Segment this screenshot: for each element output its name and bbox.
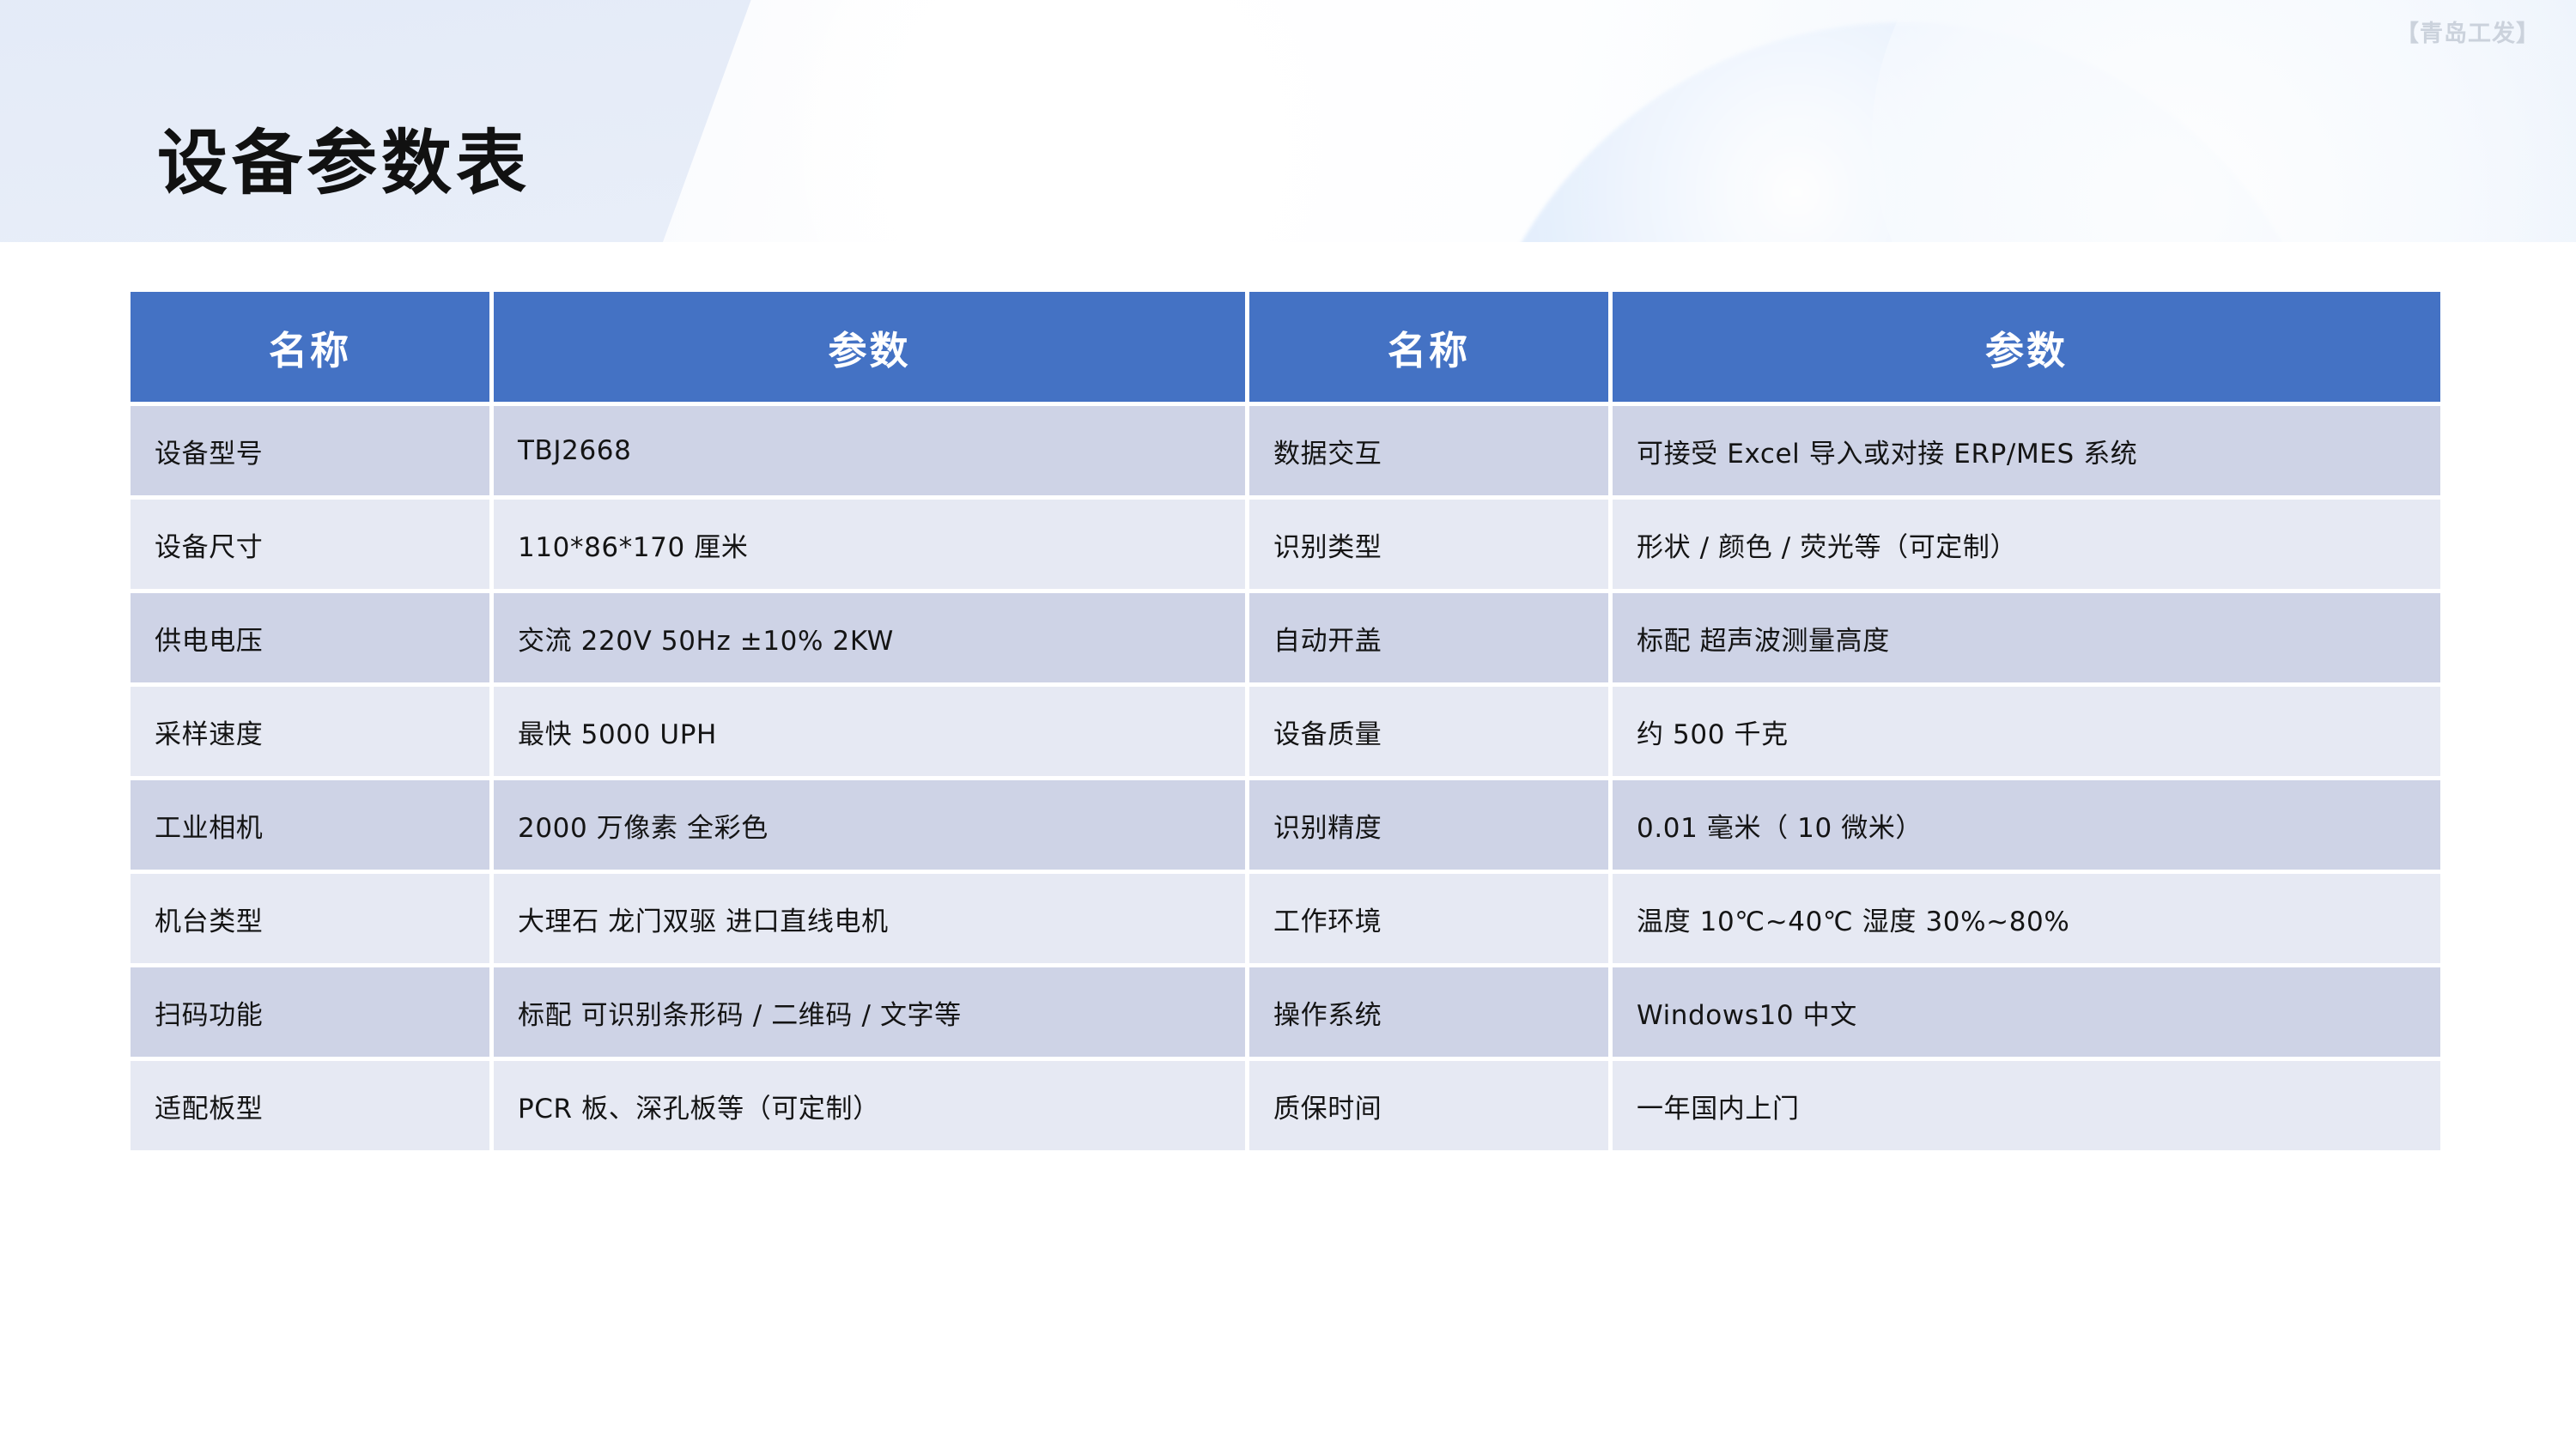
param-value-cell: 约 500 千克 <box>1613 687 2440 776</box>
table-row: 扫码功能 标配 可识别条形码 / 二维码 / 文字等 操作系统 Windows1… <box>131 967 2440 1057</box>
parameter-table-container: 名称 参数 名称 参数 设备型号 TBJ2668 数据交互 可接受 Excel … <box>131 292 2445 1150</box>
param-value-cell: 形状 / 颜色 / 荧光等（可定制） <box>1613 500 2440 589</box>
param-name-cell: 识别精度 <box>1249 780 1608 870</box>
param-name-cell: 工作环境 <box>1249 874 1608 963</box>
param-name-cell: 采样速度 <box>131 687 489 776</box>
param-name-cell: 数据交互 <box>1249 406 1608 495</box>
param-value-cell: Windows10 中文 <box>1613 967 2440 1057</box>
param-value-cell: 标配 超声波测量高度 <box>1613 593 2440 682</box>
param-value-cell: 可接受 Excel 导入或对接 ERP/MES 系统 <box>1613 406 2440 495</box>
param-value-cell: 最快 5000 UPH <box>494 687 1245 776</box>
param-value-cell: 一年国内上门 <box>1613 1061 2440 1150</box>
table-row: 适配板型 PCR 板、深孔板等（可定制） 质保时间 一年国内上门 <box>131 1061 2440 1150</box>
param-value-cell: 2000 万像素 全彩色 <box>494 780 1245 870</box>
table-row: 供电电压 交流 220V 50Hz ±10% 2KW 自动开盖 标配 超声波测量… <box>131 593 2440 682</box>
watermark-label: 【青岛工发】 <box>2396 15 2540 48</box>
param-value-cell: TBJ2668 <box>494 406 1245 495</box>
param-name-cell: 供电电压 <box>131 593 489 682</box>
parameter-table: 名称 参数 名称 参数 设备型号 TBJ2668 数据交互 可接受 Excel … <box>126 288 2445 1155</box>
param-name-cell: 设备型号 <box>131 406 489 495</box>
diagonal-shape <box>0 0 769 242</box>
param-name-cell: 适配板型 <box>131 1061 489 1150</box>
param-name-cell: 扫码功能 <box>131 967 489 1057</box>
param-name-cell: 操作系统 <box>1249 967 1608 1057</box>
column-header-value-right: 参数 <box>1613 292 2440 402</box>
param-value-cell: PCR 板、深孔板等（可定制） <box>494 1061 1245 1150</box>
param-name-cell: 质保时间 <box>1249 1061 1608 1150</box>
param-value-cell: 110*86*170 厘米 <box>494 500 1245 589</box>
table-header-row: 名称 参数 名称 参数 <box>131 292 2440 402</box>
table-row: 设备型号 TBJ2668 数据交互 可接受 Excel 导入或对接 ERP/ME… <box>131 406 2440 495</box>
table-row: 机台类型 大理石 龙门双驱 进口直线电机 工作环境 温度 10℃~40℃ 湿度 … <box>131 874 2440 963</box>
param-name-cell: 设备质量 <box>1249 687 1608 776</box>
header-decoration-band <box>0 0 2576 242</box>
page-title: 设备参数表 <box>157 129 531 199</box>
white-highlight-shape <box>773 0 1391 242</box>
param-value-cell: 0.01 毫米（ 10 微米） <box>1613 780 2440 870</box>
param-value-cell: 温度 10℃~40℃ 湿度 30%~80% <box>1613 874 2440 963</box>
table-row: 采样速度 最快 5000 UPH 设备质量 约 500 千克 <box>131 687 2440 776</box>
param-name-cell: 机台类型 <box>131 874 489 963</box>
param-name-cell: 工业相机 <box>131 780 489 870</box>
param-value-cell: 大理石 龙门双驱 进口直线电机 <box>494 874 1245 963</box>
param-value-cell: 交流 220V 50Hz ±10% 2KW <box>494 593 1245 682</box>
column-header-name-right: 名称 <box>1249 292 1608 402</box>
table-row: 工业相机 2000 万像素 全彩色 识别精度 0.01 毫米（ 10 微米） <box>131 780 2440 870</box>
table-row: 设备尺寸 110*86*170 厘米 识别类型 形状 / 颜色 / 荧光等（可定… <box>131 500 2440 589</box>
column-header-name-left: 名称 <box>131 292 489 402</box>
slide-canvas: 【青岛工发】 设备参数表 名称 参数 名称 参数 设备型号 <box>0 0 2576 1449</box>
column-header-value-left: 参数 <box>494 292 1245 402</box>
param-name-cell: 自动开盖 <box>1249 593 1608 682</box>
param-name-cell: 识别类型 <box>1249 500 1608 589</box>
param-value-cell: 标配 可识别条形码 / 二维码 / 文字等 <box>494 967 1245 1057</box>
param-name-cell: 设备尺寸 <box>131 500 489 589</box>
